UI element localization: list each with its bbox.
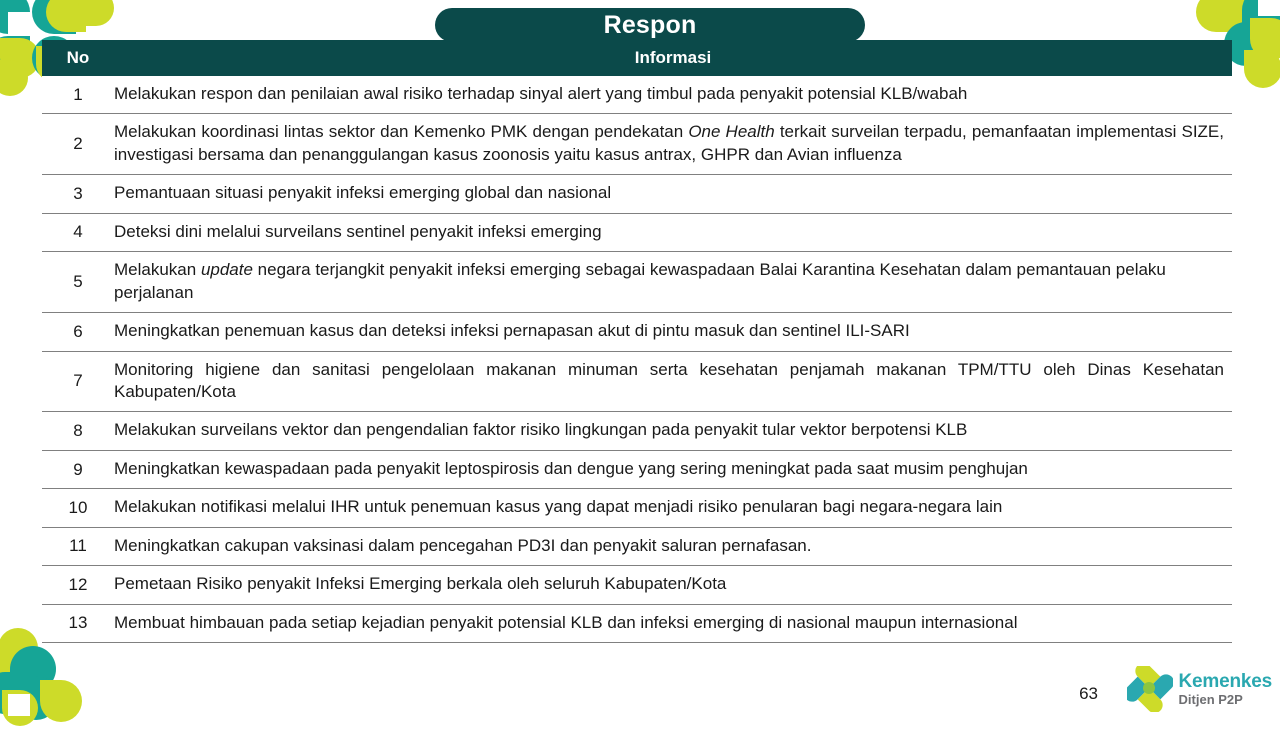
table-row: 10Melakukan notifikasi melalui IHR untuk… xyxy=(42,489,1232,527)
table-cell-no: 11 xyxy=(42,528,114,565)
logo-name: Kemenkes xyxy=(1179,672,1272,691)
table-row: 12Pemetaan Risiko penyakit Infeksi Emerg… xyxy=(42,566,1232,604)
column-header-no: No xyxy=(42,48,114,68)
table-cell-no: 10 xyxy=(42,489,114,526)
ornament-petal xyxy=(0,640,24,680)
respon-table: No Informasi 1Melakukan respon dan penil… xyxy=(42,40,1232,643)
table-cell-no: 9 xyxy=(42,451,114,488)
table-cell-no: 5 xyxy=(42,252,114,312)
table-header-row: No Informasi xyxy=(42,40,1232,76)
table-cell-informasi: Membuat himbauan pada setiap kejadian pe… xyxy=(114,605,1232,642)
emphasized-term: update xyxy=(201,260,253,279)
table-cell-informasi: Melakukan update negara terjangkit penya… xyxy=(114,252,1232,312)
ornament-petal xyxy=(1244,50,1280,88)
table-cell-informasi: Monitoring higiene dan sanitasi pengelol… xyxy=(114,352,1232,412)
table-cell-no: 7 xyxy=(42,352,114,412)
ornament-petal xyxy=(0,628,38,668)
table-row: 8Melakukan surveilans vektor dan pengend… xyxy=(42,412,1232,450)
table-cell-no: 6 xyxy=(42,313,114,350)
table-cell-informasi: Meningkatkan kewaspadaan pada penyakit l… xyxy=(114,451,1232,488)
column-header-informasi: Informasi xyxy=(114,48,1232,68)
table-cell-informasi: Deteksi dini melalui surveilans sentinel… xyxy=(114,214,1232,251)
table-cell-informasi: Pemantuaan situasi penyakit infeksi emer… xyxy=(114,175,1232,212)
table-row: 2Melakukan koordinasi lintas sektor dan … xyxy=(42,114,1232,175)
ornament-petal xyxy=(0,672,26,714)
ornament-notch xyxy=(1258,0,1280,16)
ornament-petal xyxy=(14,676,58,720)
kemenkes-logo: Kemenkes Ditjen P2P xyxy=(1127,666,1272,712)
table-cell-informasi: Melakukan notifikasi melalui IHR untuk p… xyxy=(114,489,1232,526)
ornament-petal xyxy=(1250,18,1280,60)
table-row: 9Meningkatkan kewaspadaan pada penyakit … xyxy=(42,451,1232,489)
kemenkes-logo-text: Kemenkes Ditjen P2P xyxy=(1179,672,1272,706)
table-cell-informasi: Melakukan koordinasi lintas sektor dan K… xyxy=(114,114,1232,174)
ornament-petal xyxy=(78,0,114,26)
table-row: 3Pemantuaan situasi penyakit infeksi eme… xyxy=(42,175,1232,213)
table-cell-informasi: Melakukan surveilans vektor dan pengenda… xyxy=(114,412,1232,449)
kemenkes-logo-mark xyxy=(1127,666,1173,712)
table-row: 4Deteksi dini melalui surveilans sentine… xyxy=(42,214,1232,252)
table-row: 11Meningkatkan cakupan vaksinasi dalam p… xyxy=(42,528,1232,566)
slide-title-banner: Respon xyxy=(435,8,865,42)
table-cell-informasi: Meningkatkan penemuan kasus dan deteksi … xyxy=(114,313,1232,350)
table-cell-no: 3 xyxy=(42,175,114,212)
table-cell-informasi: Meningkatkan cakupan vaksinasi dalam pen… xyxy=(114,528,1232,565)
kemenkes-flower-icon xyxy=(1127,666,1173,712)
table-cell-informasi: Pemetaan Risiko penyakit Infeksi Emergin… xyxy=(114,566,1232,603)
table-cell-no: 13 xyxy=(42,605,114,642)
ornament-petal xyxy=(0,0,30,34)
ornament-petal xyxy=(0,38,40,78)
ornament-petal xyxy=(2,690,38,726)
ornament-notch xyxy=(8,694,30,716)
ornament-petal xyxy=(1196,0,1236,32)
ornament-petal xyxy=(0,36,30,80)
ornament-petal xyxy=(1242,0,1280,32)
table-cell-no: 12 xyxy=(42,566,114,603)
emphasized-term: One Health xyxy=(688,122,774,141)
table-cell-no: 1 xyxy=(42,76,114,113)
logo-unit: Ditjen P2P xyxy=(1179,693,1272,706)
ornament-petal xyxy=(1216,0,1260,32)
ornament-petal xyxy=(0,60,28,96)
decorative-ornament-bottom-left xyxy=(0,628,102,732)
table-cell-no: 8 xyxy=(42,412,114,449)
ornament-petal xyxy=(40,680,82,722)
slide-title: Respon xyxy=(604,13,697,38)
table-cell-no: 2 xyxy=(42,114,114,174)
page-number: 63 xyxy=(1079,684,1098,704)
ornament-petal xyxy=(10,646,56,692)
table-row: 6Meningkatkan penemuan kasus dan deteksi… xyxy=(42,313,1232,351)
table-row: 13Membuat himbauan pada setiap kejadian … xyxy=(42,605,1232,643)
table-cell-informasi: Melakukan respon dan penilaian awal risi… xyxy=(114,76,1232,113)
table-row: 5Melakukan update negara terjangkit peny… xyxy=(42,252,1232,313)
ornament-petal xyxy=(32,0,76,34)
ornament-notch xyxy=(8,12,32,36)
table-cell-no: 4 xyxy=(42,214,114,251)
table-body: 1Melakukan respon dan penilaian awal ris… xyxy=(42,76,1232,643)
table-row: 1Melakukan respon dan penilaian awal ris… xyxy=(42,76,1232,114)
ornament-petal xyxy=(46,0,86,32)
table-row: 7Monitoring higiene dan sanitasi pengelo… xyxy=(42,352,1232,413)
